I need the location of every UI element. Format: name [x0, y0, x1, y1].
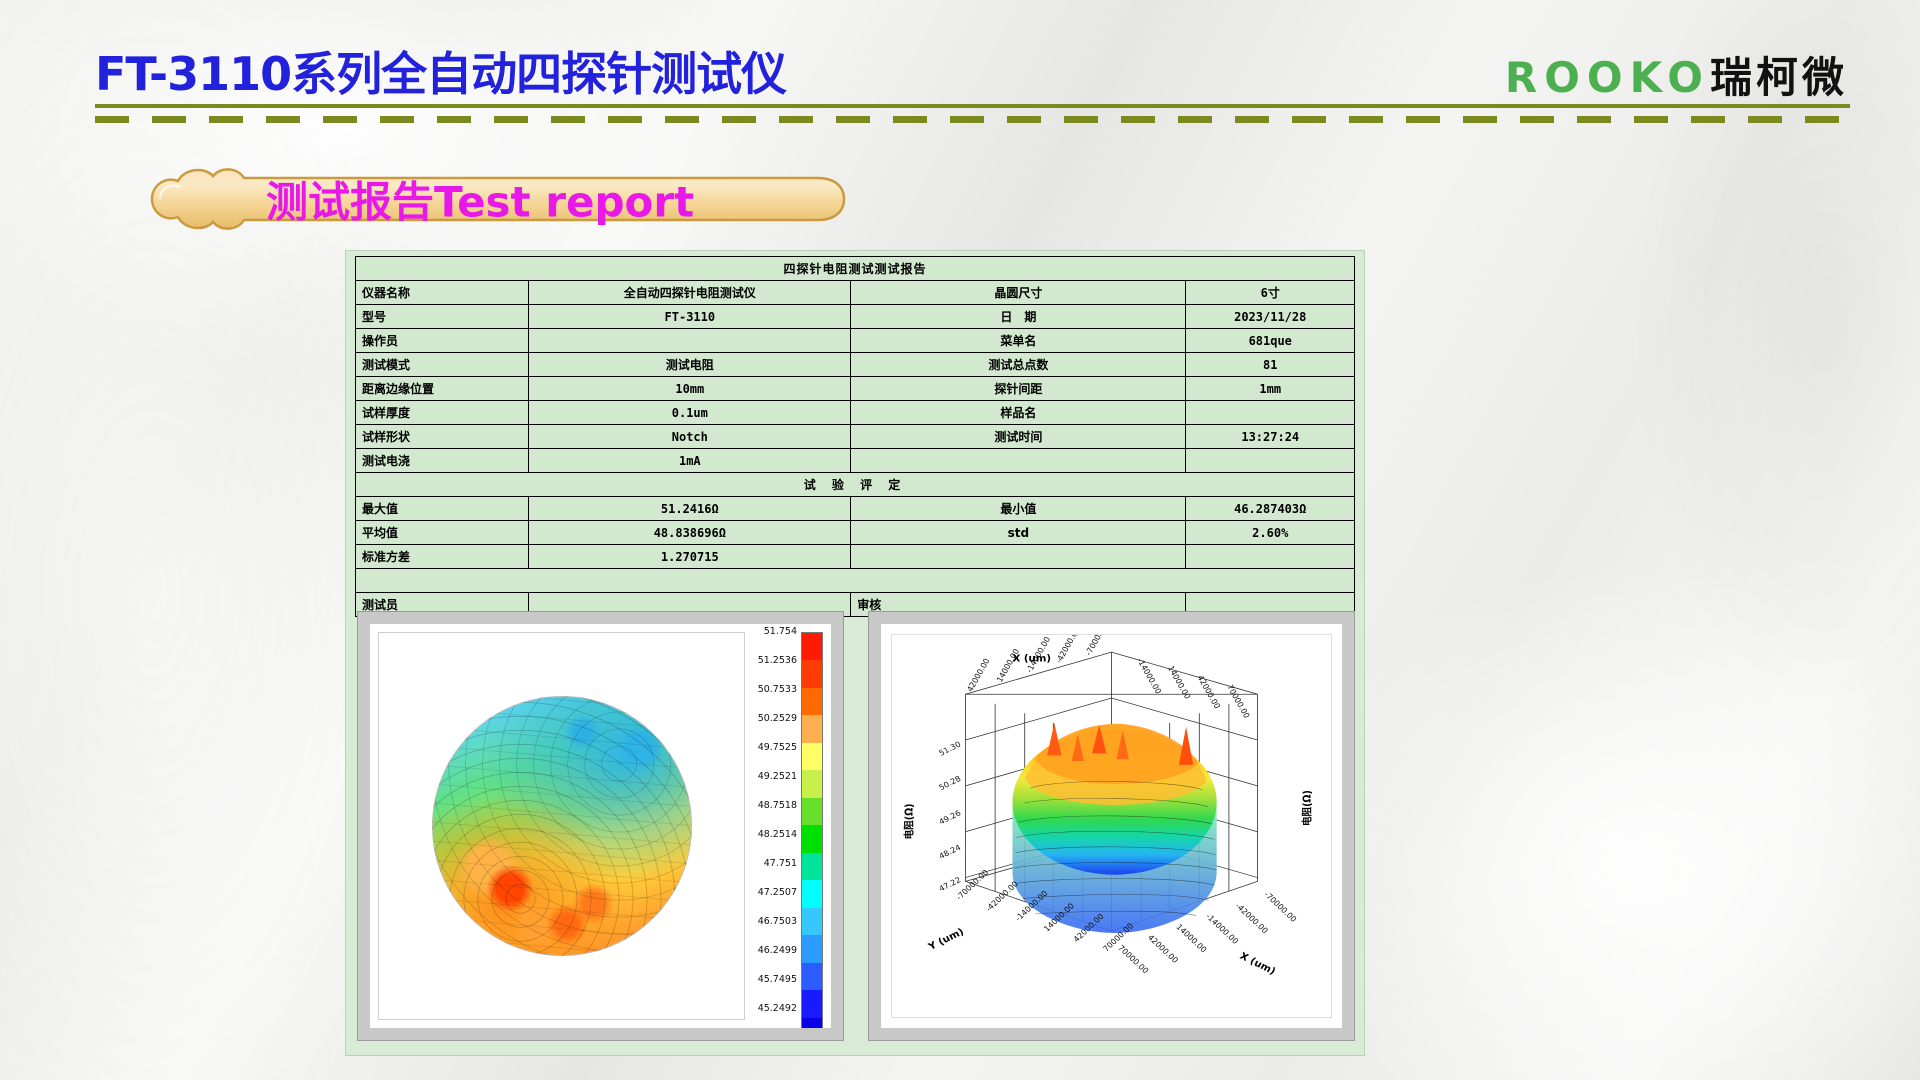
table-row: 标准方差 1.270715 — [356, 545, 1355, 569]
slide-root: FT-3110系列全自动四探针测试仪 ROOKO 瑞柯微 测试报告Test re… — [0, 0, 1920, 1080]
x-top-tick: 14000.00 — [1166, 664, 1192, 700]
row-value2 — [1186, 545, 1355, 569]
spacer-row — [356, 569, 1355, 593]
row-value: 0.1um — [529, 401, 851, 425]
row-value: 测试电阻 — [529, 353, 851, 377]
table-row: 距离边缘位置 10mm 探针间距 1mm — [356, 377, 1355, 401]
z-tick: 51.30 — [937, 740, 962, 758]
row-label2: 最小值 — [851, 497, 1186, 521]
row-value2 — [1186, 449, 1355, 473]
z-tick: 48.24 — [937, 843, 962, 861]
row-value2: 6寸 — [1186, 281, 1355, 305]
colorbar-label: 49.2521 — [758, 771, 797, 782]
x-tick: 70000.00 — [1116, 943, 1150, 975]
row-label2: 样品名 — [851, 401, 1186, 425]
colorbar-swatch — [802, 908, 822, 935]
row-value2: 46.287403Ω — [1186, 497, 1355, 521]
row-value: 51.2416Ω — [529, 497, 851, 521]
z-axis-ticks: 51.30 50.28 49.26 48.24 47.22 — [937, 740, 962, 894]
row-label: 距离边缘位置 — [356, 377, 529, 401]
surface-plot-figure: 51.30 50.28 49.26 48.24 47.22 -70000.00 … — [868, 611, 1355, 1041]
colorbar-swatch — [802, 935, 822, 962]
brand-logo: ROOKO 瑞柯微 — [1505, 44, 1848, 105]
colorbar-swatch — [802, 990, 822, 1017]
row-label2: 菜单名 — [851, 329, 1186, 353]
row-label: 标准方差 — [356, 545, 529, 569]
colorbar-label: 51.2536 — [758, 655, 797, 666]
colorbar-swatch — [802, 798, 822, 825]
z-tick: 49.26 — [937, 809, 962, 827]
row-value: 1mA — [529, 449, 851, 473]
row-value: 1.270715 — [529, 545, 851, 569]
colorbar-label: 51.754 — [764, 626, 797, 637]
contour-map-figure: 51.754 51.2536 50.7533 50.2529 49.7525 4… — [357, 611, 844, 1041]
x-tick: -14000.00 — [1204, 912, 1240, 946]
x-tick: 42000.00 — [1146, 933, 1180, 965]
report-title: 四探针电阻测试测试报告 — [356, 257, 1355, 281]
header-rule-solid — [95, 104, 1850, 108]
surface-plot-area: 51.30 50.28 49.26 48.24 47.22 -70000.00 … — [891, 634, 1332, 1018]
colorbar-label: 50.2529 — [758, 713, 797, 724]
row-value2: 2023/11/28 — [1186, 305, 1355, 329]
colorbar-swatch — [802, 1018, 822, 1028]
table-row: 操作员 菜单名 681que — [356, 329, 1355, 353]
header-rule-dashed — [95, 116, 1850, 123]
colorbar-swatch — [802, 853, 822, 880]
colorbar-labels: 51.754 51.2536 50.7533 50.2529 49.7525 4… — [735, 626, 797, 1028]
wafer-contour-plot-area — [378, 632, 745, 1020]
colorbar-swatch — [802, 825, 822, 852]
row-label: 试样形状 — [356, 425, 529, 449]
row-value2: 81 — [1186, 353, 1355, 377]
table-row: 型号 FT-3110 日 期 2023/11/28 — [356, 305, 1355, 329]
row-label: 操作员 — [356, 329, 529, 353]
z-axis-title-right: 电阻(Ω) — [1300, 790, 1313, 826]
y-tick: -70000.00 — [954, 868, 990, 902]
row-label2 — [851, 545, 1186, 569]
row-label2: 晶圆尺寸 — [851, 281, 1186, 305]
z-tick: 50.28 — [937, 774, 962, 792]
row-label: 测试模式 — [356, 353, 529, 377]
row-label: 最大值 — [356, 497, 529, 521]
row-label: 试样厚度 — [356, 401, 529, 425]
table-row: 测试电浇 1mA — [356, 449, 1355, 473]
colorbar-label: 49.7525 — [758, 742, 797, 753]
row-label: 平均值 — [356, 521, 529, 545]
row-label2: 日 期 — [851, 305, 1186, 329]
x-top-tick: 42000.00 — [1195, 674, 1221, 710]
section-banner-text: 测试报告Test report — [266, 169, 694, 230]
colorbar-swatch — [802, 633, 822, 660]
row-label: 仪器名称 — [356, 281, 529, 305]
colorbar — [801, 632, 823, 1028]
x-axis-title-top: X (um) — [1012, 654, 1051, 665]
eval-section-title: 试 验 评 定 — [356, 473, 1355, 497]
colorbar-swatch — [802, 715, 822, 742]
table-row: 试样形状 Notch 测试时间 13:27:24 — [356, 425, 1355, 449]
colorbar-label: 48.7518 — [758, 800, 797, 811]
brand-logo-cn: 瑞柯微 — [1710, 44, 1848, 105]
colorbar-swatch — [802, 963, 822, 990]
table-row: 最大值 51.2416Ω 最小值 46.287403Ω — [356, 497, 1355, 521]
colorbar-label: 45.7495 — [758, 974, 797, 985]
row-value2: 1mm — [1186, 377, 1355, 401]
row-value: 48.838696Ω — [529, 521, 851, 545]
eval-section-row: 试 验 评 定 — [356, 473, 1355, 497]
row-value: 全自动四探针电阻测试仪 — [529, 281, 851, 305]
row-value — [529, 329, 851, 353]
x-tick: -70000.00 — [1262, 890, 1298, 924]
colorbar-label: 46.7503 — [758, 916, 797, 927]
x-tick: -42000.00 — [1234, 901, 1270, 935]
table-row: 试样厚度 0.1um 样品名 — [356, 401, 1355, 425]
row-label: 测试电浇 — [356, 449, 529, 473]
section-banner: 测试报告Test report — [118, 158, 878, 240]
row-label2: std — [851, 521, 1186, 545]
colorbar-label: 50.7533 — [758, 684, 797, 695]
row-value: Notch — [529, 425, 851, 449]
colorbar-label: 45.2492 — [758, 1003, 797, 1014]
row-value2: 681que — [1186, 329, 1355, 353]
y-tick: -42000.00 — [984, 880, 1020, 914]
page-title: FT-3110系列全自动四探针测试仪 — [95, 38, 786, 104]
surface-mesh — [1012, 723, 1216, 933]
table-row: 仪器名称 全自动四探针电阻测试仪 晶圆尺寸 6寸 — [356, 281, 1355, 305]
colorbar-label: 47.751 — [764, 858, 797, 869]
x-top-tick: -14000.00 — [1135, 657, 1163, 696]
row-label2: 探针间距 — [851, 377, 1186, 401]
wafer-contour-surface — [432, 696, 692, 956]
row-value: FT-3110 — [529, 305, 851, 329]
colorbar-swatch — [802, 880, 822, 907]
contour-map-canvas: 51.754 51.2536 50.7533 50.2529 49.7525 4… — [370, 624, 831, 1028]
brand-logo-latin: ROOKO — [1505, 53, 1710, 102]
report-sheet: 四探针电阻测试测试报告 仪器名称 全自动四探针电阻测试仪 晶圆尺寸 6寸 型号 … — [345, 250, 1365, 1056]
figures-row: 51.754 51.2536 50.7533 50.2529 49.7525 4… — [357, 611, 1355, 1041]
x-top-tick: -42000.00 — [1054, 635, 1082, 665]
report-table: 四探针电阻测试测试报告 仪器名称 全自动四探针电阻测试仪 晶圆尺寸 6寸 型号 … — [355, 256, 1355, 617]
z-axis-title-left: 电阻(Ω) — [902, 803, 915, 839]
row-label2 — [851, 449, 1186, 473]
table-row: 测试模式 测试电阻 测试总点数 81 — [356, 353, 1355, 377]
y-axis-title: Y (um) — [926, 927, 966, 954]
spacer-cell — [356, 569, 1355, 593]
colorbar-swatch — [802, 688, 822, 715]
row-value2: 13:27:24 — [1186, 425, 1355, 449]
report-title-row: 四探针电阻测试测试报告 — [356, 257, 1355, 281]
x-axis-top-ticks: 42000.00 14000.00 -14000.00 -42000.00 -7… — [965, 635, 1251, 720]
row-value2: 2.60% — [1186, 521, 1355, 545]
row-label2: 测试总点数 — [851, 353, 1186, 377]
report-table-body: 四探针电阻测试测试报告 仪器名称 全自动四探针电阻测试仪 晶圆尺寸 6寸 型号 … — [356, 257, 1355, 617]
colorbar-swatch — [802, 770, 822, 797]
row-value: 10mm — [529, 377, 851, 401]
table-row: 平均值 48.838696Ω std 2.60% — [356, 521, 1355, 545]
x-tick: 14000.00 — [1174, 922, 1208, 954]
colorbar-swatch — [802, 743, 822, 770]
surface-plot-svg: 51.30 50.28 49.26 48.24 47.22 -70000.00 … — [892, 635, 1331, 1017]
colorbar-label: 46.2499 — [758, 945, 797, 956]
colorbar-label: 47.2507 — [758, 887, 797, 898]
row-value2 — [1186, 401, 1355, 425]
colorbar-swatch — [802, 660, 822, 687]
row-label2: 测试时间 — [851, 425, 1186, 449]
surface-plot-canvas: 51.30 50.28 49.26 48.24 47.22 -70000.00 … — [881, 624, 1342, 1028]
x-top-tick: 14000.00 — [995, 647, 1021, 683]
row-label: 型号 — [356, 305, 529, 329]
colorbar-label: 48.2514 — [758, 829, 797, 840]
x-axis-title: X (um) — [1238, 951, 1277, 977]
